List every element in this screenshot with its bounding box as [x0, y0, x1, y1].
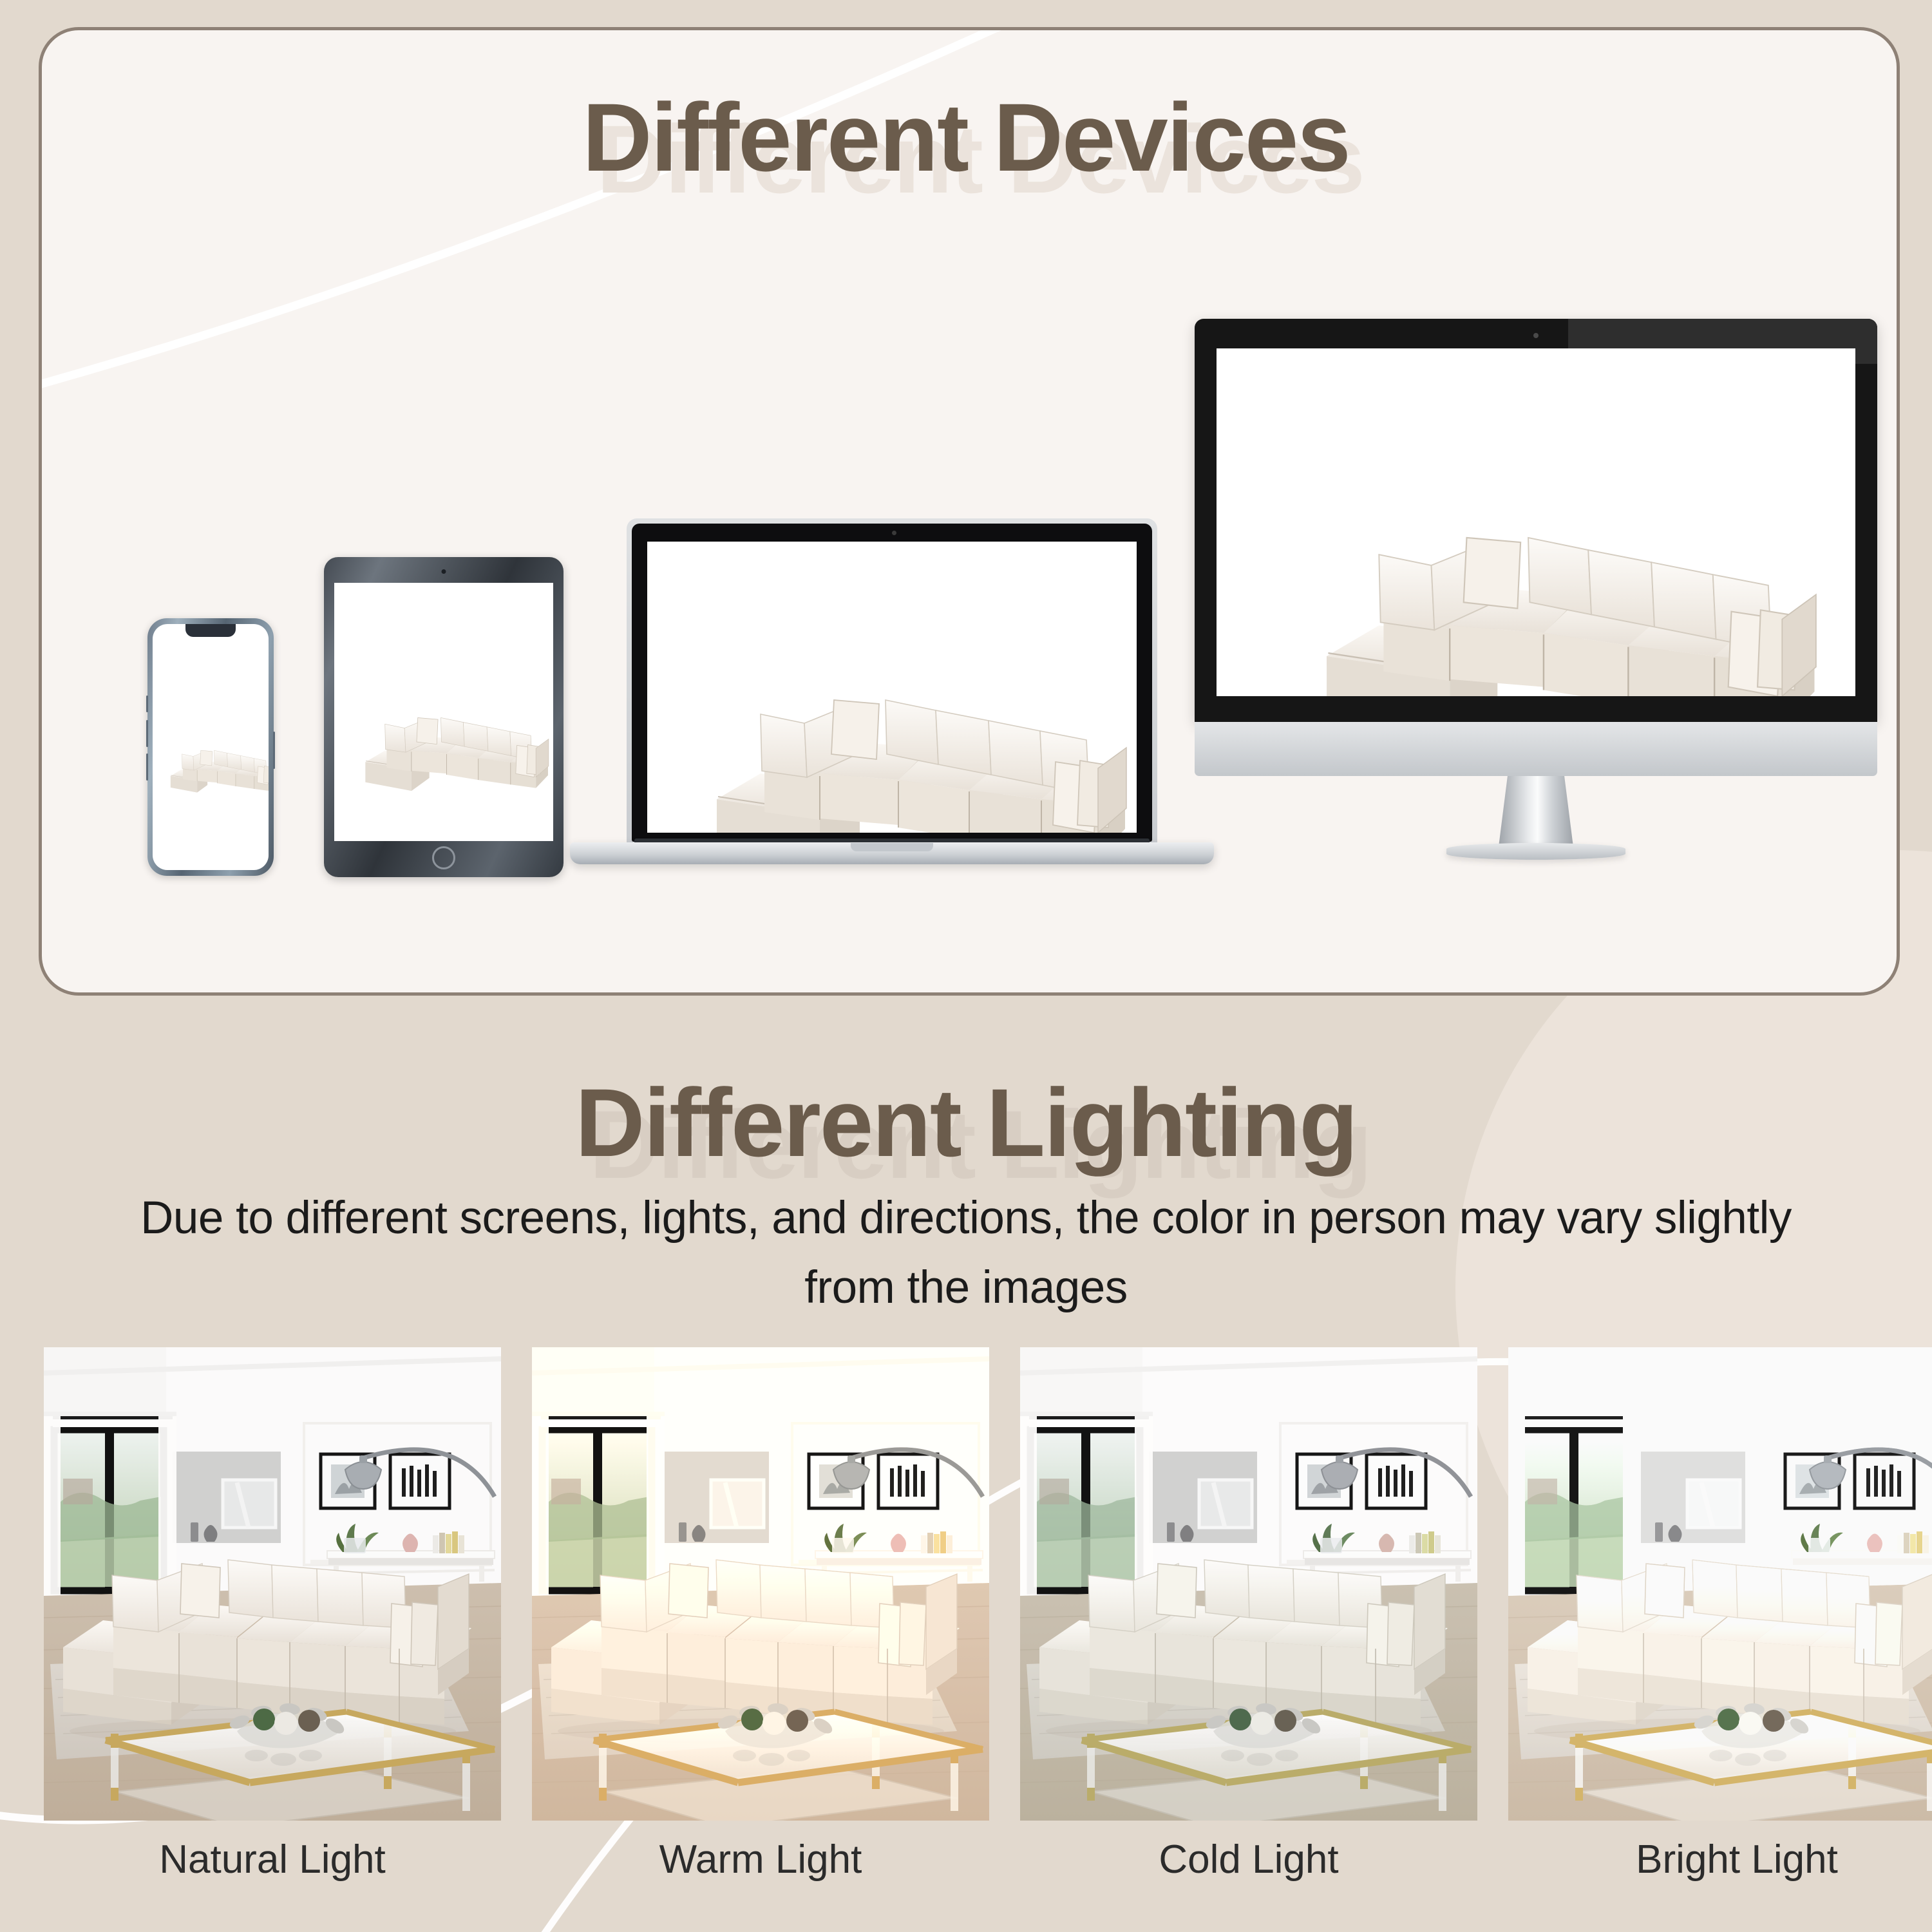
lighting-title-block: Different Lighting Different Lighting — [0, 1061, 1932, 1184]
monitor-stand-foot — [1446, 843, 1625, 860]
devices-title-block: Different Devices Different Devices — [0, 76, 1932, 198]
lighting-label-natural: Natural Light — [44, 1834, 501, 1886]
lighting-title: Different Lighting — [0, 1061, 1932, 1184]
room-scene-warm — [532, 1347, 989, 1821]
product-image-smartphone — [153, 624, 269, 870]
smartphone-power-button[interactable] — [273, 732, 275, 769]
monitor-screen — [1217, 348, 1855, 696]
room-scene-natural — [44, 1347, 501, 1821]
smartphone-volume-up-button[interactable] — [146, 720, 148, 747]
smartphone-volume-down-button[interactable] — [146, 753, 148, 781]
product-image-tablet — [334, 583, 553, 841]
lighting-panel-warm — [532, 1347, 989, 1821]
tablet-home-button[interactable] — [432, 846, 455, 869]
devices-title: Different Devices — [0, 76, 1932, 198]
infographic-root: Different Devices Different Devices Diff… — [0, 0, 1932, 1932]
lighting-label-warm: Warm Light — [532, 1834, 989, 1886]
smartphone-notch-icon — [185, 624, 236, 637]
smartphone-screen — [153, 624, 269, 870]
device-tablet — [324, 557, 563, 877]
lighting-panel-bright — [1508, 1347, 1932, 1821]
tablet-screen — [334, 583, 553, 841]
product-image-monitor — [1217, 348, 1855, 696]
tablet-camera-icon — [442, 569, 446, 574]
room-scene-bright — [1508, 1347, 1932, 1821]
device-laptop — [570, 518, 1214, 905]
monitor-camera-icon — [1533, 333, 1539, 338]
product-image-laptop — [647, 542, 1137, 833]
monitor-stand-neck — [1499, 776, 1573, 847]
laptop-trackpad-notch — [851, 843, 933, 851]
laptop-camera-icon — [892, 531, 896, 535]
smartphone-volume-button[interactable] — [146, 696, 148, 712]
monitor-chin — [1195, 722, 1877, 776]
lighting-label-cold: Cold Light — [1020, 1834, 1477, 1886]
room-scene-cold — [1020, 1347, 1477, 1821]
device-smartphone — [147, 618, 274, 876]
laptop-screen — [647, 542, 1137, 833]
device-desktop-monitor — [1195, 319, 1877, 885]
lighting-panel-cold — [1020, 1347, 1477, 1821]
lighting-label-bright: Bright Light — [1508, 1834, 1932, 1886]
lighting-panel-natural — [44, 1347, 501, 1821]
